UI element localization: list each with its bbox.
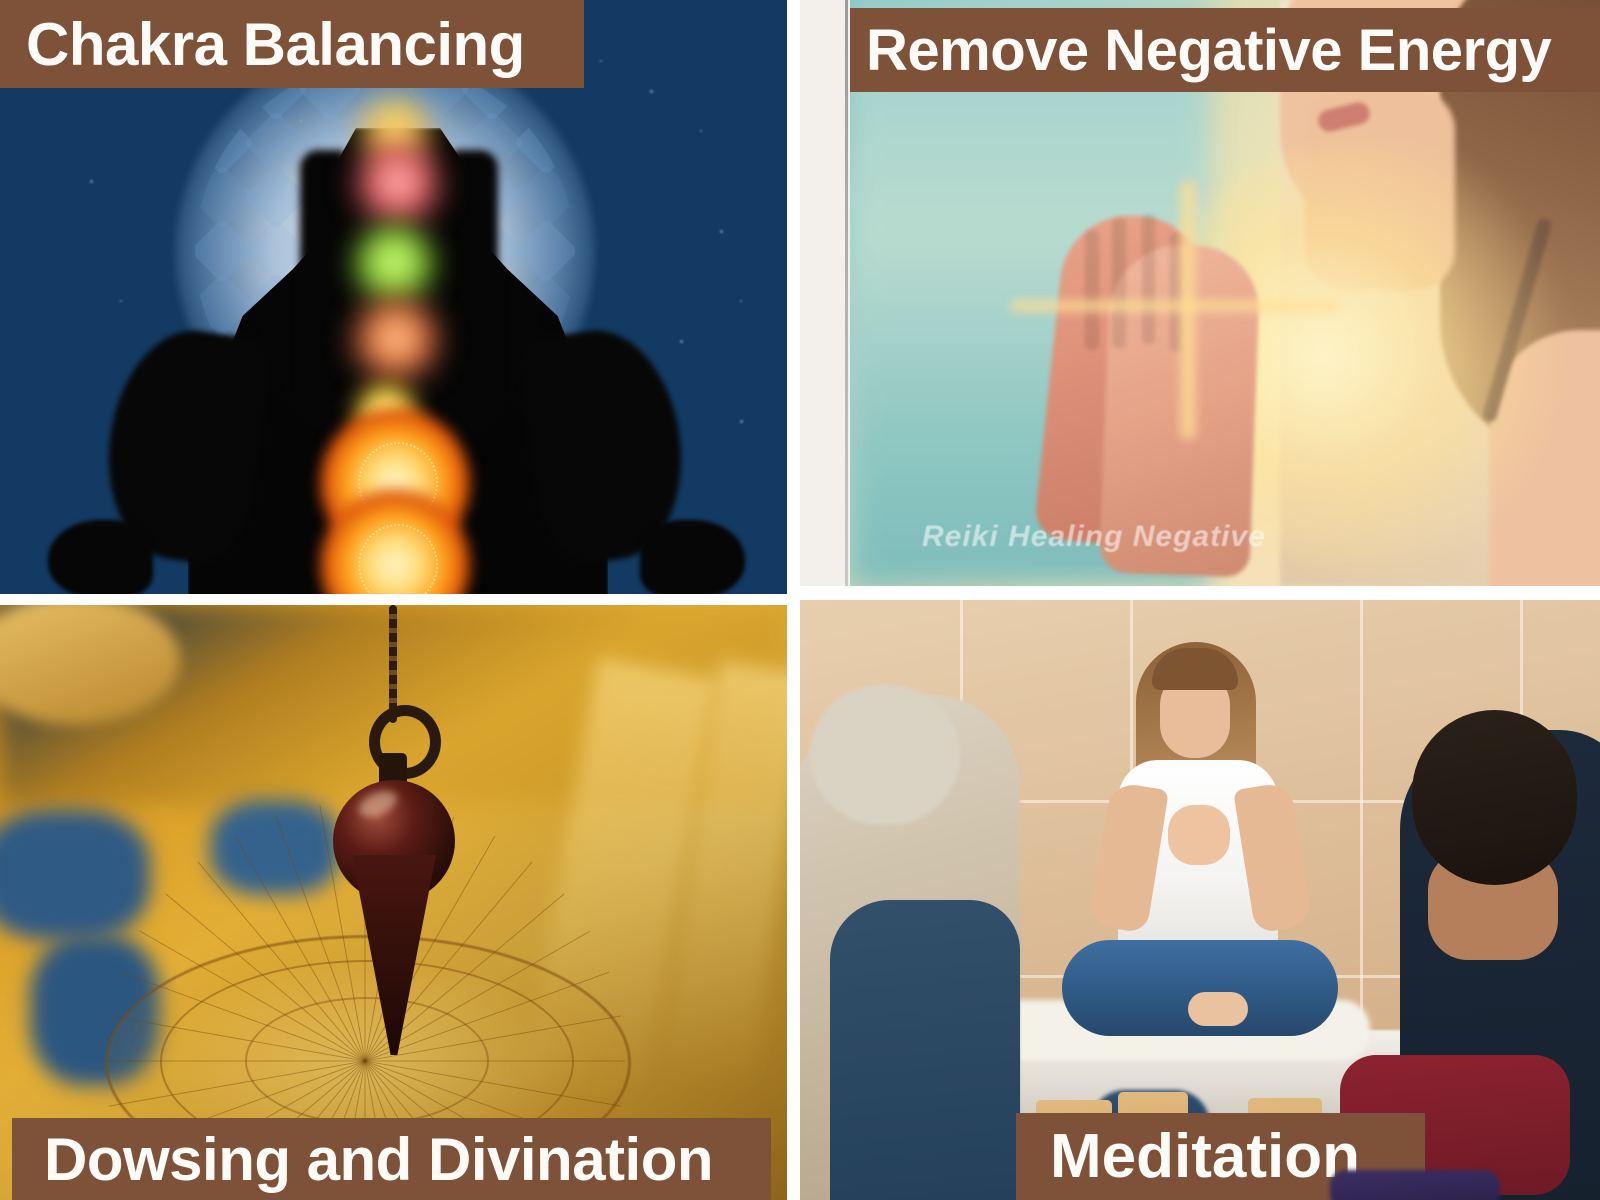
- chakra-glow-4: [350, 296, 442, 388]
- instructor-hands: [1168, 805, 1230, 865]
- hand-right: [640, 520, 745, 594]
- instructor-foot: [1188, 992, 1248, 1026]
- panel-dowsing-and-divination[interactable]: [0, 605, 787, 1200]
- photo-frame-edge: [845, 0, 848, 586]
- student-left-top: [830, 900, 1020, 1200]
- blue-chart-patch-1: [0, 810, 150, 940]
- hand-left: [48, 520, 153, 594]
- hair-left: [300, 150, 346, 400]
- photo-watermark: Reiki Healing Negative: [922, 520, 1266, 554]
- panel-meditation[interactable]: [800, 600, 1600, 1200]
- violet-mat: [1330, 1170, 1500, 1200]
- light-streak-1: [1010, 300, 1340, 312]
- caption-dowsing-and-divination: Dowsing and Divination: [12, 1118, 771, 1200]
- hair-right: [452, 150, 498, 400]
- light-streak-2: [1180, 180, 1196, 440]
- caption-chakra-balancing: Chakra Balancing: [0, 0, 584, 88]
- student-left-bun: [810, 685, 960, 825]
- caption-remove-negative-energy: Remove Negative Energy: [850, 8, 1600, 92]
- collage-grid: Reiki Healing Negative: [0, 0, 1600, 1200]
- panel-chakra-balancing[interactable]: [0, 0, 787, 594]
- chakra-glow-2: [352, 140, 444, 232]
- student-right-hair: [1412, 710, 1577, 885]
